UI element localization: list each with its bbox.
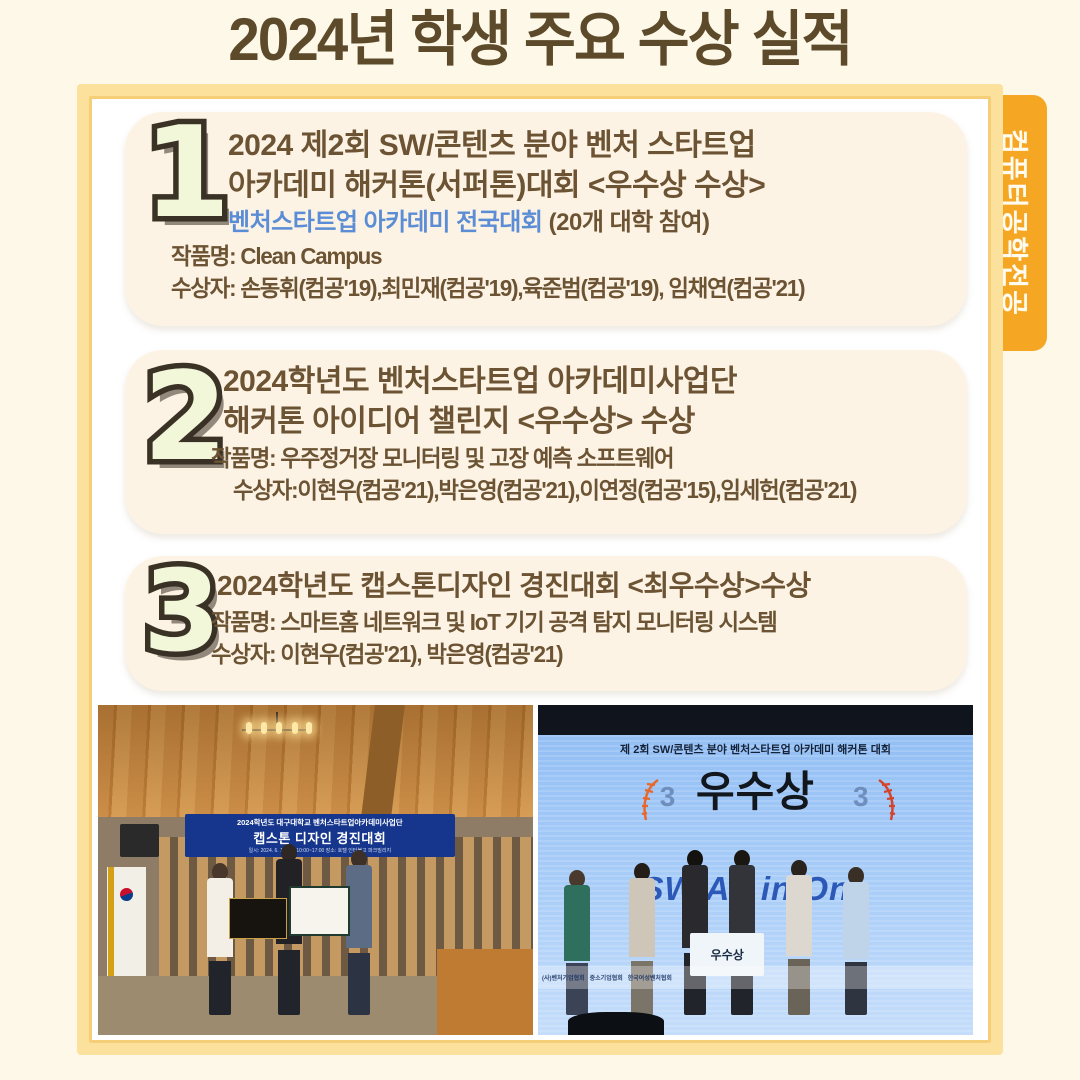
award-winners: 수상자:이현우(컴공'21),박은영(컴공'21),이연정(컴공'15),임세헌… — [233, 474, 941, 506]
laurel-right-icon — [873, 778, 899, 822]
award-card-3-content: 2024학년도 캡스톤디자인 경진대회 <최우수상>수상 작품명: 스마트홈 네… — [217, 566, 967, 670]
chandelier-icon — [242, 712, 312, 752]
screen-title: 제 2회 SW/콘텐츠 분야 벤처스타트업 아카데미 해커톤 대회 — [538, 741, 973, 757]
award-headline-line1: 2024학년도 캡스톤디자인 경진대회 <최우수상>수상 — [217, 566, 967, 606]
banner-line1: 2024학년도 대구대학교 벤처스타트업아카데미사업단 — [237, 817, 403, 828]
event-banner: 2024학년도 대구대학교 벤처스타트업아카데미사업단 캡스톤 디자인 경진대회… — [185, 814, 455, 857]
award-rank-numeral: 1 — [143, 110, 231, 236]
banner-line2: 캡스톤 디자인 경진대회 — [253, 828, 386, 847]
award-rank-numeral: 3 — [143, 556, 221, 668]
award-work-name: 작품명: 우주정거장 모니터링 및 고장 예측 소프트웨어 — [211, 442, 940, 474]
award-headline-line2: 아카데미 해커톤(서퍼톤)대회 <우수상 수상> — [228, 166, 958, 206]
floor-right-wood — [437, 949, 533, 1035]
award-card-1-content: 2024 제2회 SW/콘텐츠 분야 벤처 스타트업 아카데미 해커톤(서퍼톤)… — [228, 126, 958, 304]
korean-flag — [107, 867, 146, 976]
award-number-right: 3 — [853, 781, 869, 813]
banner-line3: 일시: 2024. 6. 14.(금) 10:00~17:00 장소: 호텔 인… — [249, 847, 391, 854]
award-winners: 수상자: 이현우(컴공'21), 박은영(컴공'21) — [211, 638, 944, 670]
stage-top-dark — [538, 705, 973, 735]
award-headline-line2: 해커톤 아이디어 챌린지 <우수상> 수상 — [223, 402, 963, 442]
award-subtitle: 벤처스타트업 아카데미 전국대회 (20개 대학 참여) — [228, 206, 958, 240]
award-subtitle-highlight: 벤처스타트업 아카데미 전국대회 — [228, 209, 542, 236]
sponsor-logo-3: 한국여성벤처협회 — [628, 973, 672, 982]
award-headline-line1: 2024학년도 벤처스타트업 아카데미사업단 — [223, 362, 963, 402]
ceiling-shade — [98, 705, 533, 817]
certificate-folder — [289, 886, 350, 936]
award-card-1[interactable]: 1 2024 제2회 SW/콘텐츠 분야 벤처 스타트업 아카데미 해커톤(서퍼… — [125, 112, 967, 326]
award-card-2-content: 2024학년도 벤처스타트업 아카데미사업단 해커톤 아이디어 챌린지 <우수상… — [223, 362, 963, 506]
sponsor-logo-bar: (사)벤처기업협회 중소기업협회 한국여성벤처협회 — [538, 966, 973, 989]
sponsor-logo-1: (사)벤처기업협회 — [542, 973, 585, 982]
page-title: 2024년 학생 주요 수상 실적 — [32, 4, 1047, 76]
speaker-box — [120, 824, 159, 857]
award-title: 우수상 — [538, 771, 973, 813]
award-plaque — [229, 898, 288, 940]
award-headline-line1: 2024 제2회 SW/콘텐츠 분야 벤처 스타트업 — [228, 126, 958, 166]
audience-silhouette — [568, 1012, 664, 1035]
award-work-name: 작품명: 스마트홈 네트워크 및 IoT 기기 공격 탐지 모니터링 시스템 — [211, 606, 944, 638]
screen-tagline: SW All in One — [538, 870, 973, 908]
photo-hackathon-stage: 제 2회 SW/콘텐츠 분야 벤처스타트업 아카데미 해커톤 대회 3 우수상 … — [538, 705, 973, 1035]
award-work-name: 작품명: Clean Campus — [171, 240, 934, 272]
photo-capstone-ceremony: 2024학년도 대구대학교 벤처스타트업아카데미사업단 캡스톤 디자인 경진대회… — [98, 705, 533, 1035]
award-card-3[interactable]: 3 2024학년도 캡스톤디자인 경진대회 <최우수상>수상 작품명: 스마트홈… — [125, 556, 967, 691]
award-winners: 수상자: 손동휘(컴공'19),최민재(컴공'19),육준범(컴공'19), 임… — [171, 272, 934, 304]
award-card-2[interactable]: 2 2024학년도 벤처스타트업 아카데미사업단 해커톤 아이디어 챌린지 <우… — [125, 350, 967, 534]
award-subtitle-plain: (20개 대학 참여) — [542, 209, 709, 236]
sponsor-logo-2: 중소기업협회 — [590, 973, 623, 982]
